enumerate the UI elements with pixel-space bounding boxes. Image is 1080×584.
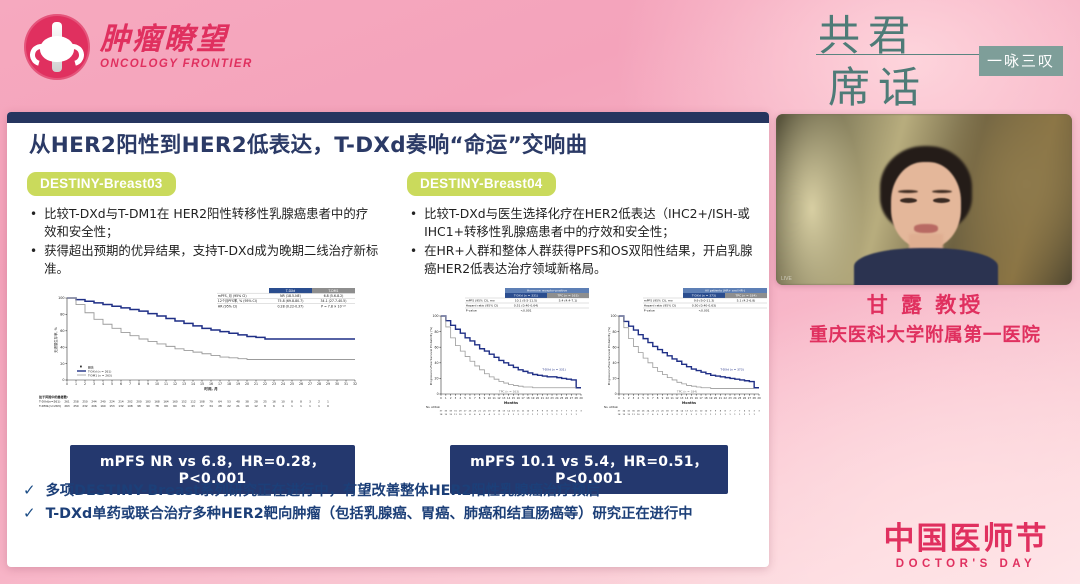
svg-text:8: 8 — [479, 396, 481, 400]
speaker-brow-left — [898, 190, 918, 193]
crab-globe-icon — [24, 14, 90, 80]
svg-text:9: 9 — [715, 411, 717, 413]
svg-text:T-DXd (n = 373): T-DXd (n = 373) — [691, 294, 716, 298]
svg-text:1: 1 — [318, 404, 320, 408]
speaker-affiliation: 重庆医科大学附属第一医院 — [776, 322, 1074, 350]
svg-text:12: 12 — [690, 411, 693, 413]
svg-text:24: 24 — [555, 396, 559, 400]
svg-text:Hazard ratio (95% CI): Hazard ratio (95% CI) — [644, 304, 676, 308]
svg-text:20: 20 — [613, 377, 617, 381]
svg-text:240: 240 — [100, 400, 105, 404]
svg-text:1: 1 — [547, 414, 549, 416]
svg-text:20: 20 — [483, 411, 486, 413]
bullet-item: • 比较T-DXd与T-DM1在 HER2阳性转移性乳腺癌患者中的疗效和安全性； — [30, 205, 379, 241]
svg-text:79: 79 — [209, 400, 213, 404]
svg-text:12个月PFS率, % (95% CI): 12个月PFS率, % (95% CI) — [218, 298, 257, 303]
svg-text:13: 13 — [680, 396, 684, 400]
svg-text:15: 15 — [622, 414, 625, 416]
svg-text:1: 1 — [291, 404, 293, 408]
svg-text:164: 164 — [163, 400, 168, 404]
bullet-text: 比较T-DXd与T-DM1在 HER2阳性转移性乳腺癌患者中的疗效和安全性； — [44, 205, 379, 241]
svg-text:23: 23 — [473, 411, 476, 413]
svg-text:1: 1 — [532, 414, 534, 416]
svg-text:0.51 (0.40-0.64): 0.51 (0.40-0.64) — [514, 304, 538, 308]
svg-text:1: 1 — [571, 414, 573, 416]
svg-text:11: 11 — [517, 411, 520, 413]
bullet-marker-icon: • — [30, 242, 37, 278]
svg-text:43: 43 — [191, 404, 195, 408]
svg-text:6.8 (5.6-8.2): 6.8 (5.6-8.2) — [324, 294, 344, 298]
svg-text:HR (95% CI): HR (95% CI) — [218, 304, 237, 308]
svg-text:7: 7 — [566, 411, 568, 413]
svg-text:T-DM1 (n = 263): T-DM1 (n = 263) — [87, 373, 112, 377]
svg-text:168: 168 — [154, 400, 159, 404]
bullet-marker-icon: • — [30, 205, 37, 241]
svg-text:23: 23 — [728, 396, 732, 400]
svg-text:3: 3 — [671, 414, 673, 416]
svg-text:24: 24 — [733, 396, 737, 400]
svg-text:T-DM1(n=263): T-DM1(n=263) — [38, 404, 61, 408]
svg-text:19: 19 — [488, 411, 491, 413]
bullet-item: • 获得超出预期的优异结果，支持T-DXd成为晚期二线治疗新标准。 — [30, 242, 379, 278]
svg-text:1: 1 — [75, 382, 77, 386]
svg-text:40: 40 — [613, 361, 617, 365]
svg-text:13: 13 — [685, 411, 688, 413]
svg-text:13: 13 — [512, 411, 515, 413]
svg-text:9: 9 — [147, 382, 149, 386]
svg-text:53: 53 — [227, 400, 231, 404]
svg-text:All patients (HR+ and HR-): All patients (HR+ and HR-) — [705, 289, 745, 293]
conclusion-item: ✓ 多项DESTINY-Breast系列研究正在进行中，有望改善整体HER2阳性… — [23, 482, 763, 501]
svg-text:19: 19 — [709, 396, 713, 400]
svg-text:263: 263 — [64, 404, 69, 408]
svg-text:37: 37 — [440, 411, 443, 413]
svg-text:17: 17 — [493, 411, 496, 413]
study-badge-db03: DESTINY-Breast03 — [27, 172, 176, 196]
svg-text:2: 2 — [84, 382, 86, 386]
svg-text:21: 21 — [656, 411, 659, 413]
svg-text:34.1 (27.7-40.5): 34.1 (27.7-40.5) — [321, 299, 347, 303]
svg-text:28: 28 — [637, 411, 640, 413]
svg-text:3: 3 — [676, 414, 678, 416]
svg-text:31: 31 — [454, 411, 457, 413]
channel-logo-text: 肿瘤瞭望 ONCOLOGY FRONTIER — [100, 24, 253, 69]
svg-text:28: 28 — [575, 396, 579, 400]
svg-text:NR (18.5-NE): NR (18.5-NE) — [280, 294, 301, 298]
channel-logo: 肿瘤瞭望 ONCOLOGY FRONTIER — [24, 10, 274, 84]
svg-text:7: 7 — [734, 411, 736, 413]
svg-text:0: 0 — [62, 378, 64, 382]
speaker-mouth — [914, 224, 938, 233]
svg-text:13: 13 — [502, 396, 506, 400]
program-subtitle-badge: 一咏三叹 — [979, 46, 1063, 76]
svg-text:40: 40 — [60, 345, 64, 349]
svg-text:10: 10 — [705, 411, 708, 413]
svg-text:T-DXd(n=261): T-DXd(n=261) — [38, 400, 60, 404]
svg-text:28: 28 — [317, 382, 321, 386]
speaker-eye-left — [900, 198, 917, 203]
svg-text:8: 8 — [138, 382, 140, 386]
svg-text:6: 6 — [273, 404, 275, 408]
svg-text:28: 28 — [753, 396, 757, 400]
svg-text:261: 261 — [64, 400, 69, 404]
svg-text:14: 14 — [507, 396, 511, 400]
svg-text:3: 3 — [576, 411, 578, 413]
svg-text:160: 160 — [172, 400, 177, 404]
svg-text:TPC (n = 184): TPC (n = 184) — [734, 294, 756, 298]
svg-text:232: 232 — [82, 404, 87, 408]
svg-text:80: 80 — [435, 330, 439, 334]
svg-text:1: 1 — [327, 400, 329, 404]
svg-text:1: 1 — [720, 414, 722, 416]
svg-text:<0.001: <0.001 — [520, 309, 531, 313]
slide-top-accent-bar — [7, 112, 769, 123]
svg-text:21: 21 — [254, 382, 258, 386]
svg-text:80: 80 — [613, 330, 617, 334]
svg-text:4: 4 — [637, 396, 639, 400]
svg-text:1: 1 — [744, 414, 746, 416]
svg-text:16: 16 — [695, 396, 699, 400]
svg-text:5.4 (4.4-7.1): 5.4 (4.4-7.1) — [559, 299, 578, 303]
svg-text:9: 9 — [710, 411, 712, 413]
svg-text:16: 16 — [676, 411, 679, 413]
svg-text:19: 19 — [531, 396, 535, 400]
svg-text:P value: P value — [466, 309, 477, 313]
svg-text:8: 8 — [300, 400, 302, 404]
svg-text:6: 6 — [479, 414, 481, 416]
svg-text:24: 24 — [647, 411, 650, 413]
svg-text:10: 10 — [666, 396, 670, 400]
svg-text:0: 0 — [615, 392, 617, 396]
svg-text:22: 22 — [724, 396, 728, 400]
svg-text:160: 160 — [100, 404, 105, 408]
svg-text:12: 12 — [675, 396, 679, 400]
svg-text:5: 5 — [484, 414, 486, 416]
svg-text:P value: P value — [644, 309, 655, 313]
svg-text:27: 27 — [570, 396, 574, 400]
svg-text:14: 14 — [680, 411, 683, 413]
svg-text:3: 3 — [758, 411, 760, 413]
svg-text:8: 8 — [264, 404, 266, 408]
svg-text:No. at Risk: No. at Risk — [426, 405, 440, 409]
svg-text:1: 1 — [700, 414, 702, 416]
svg-text:7: 7 — [561, 411, 563, 413]
svg-text:Months: Months — [504, 401, 518, 405]
svg-text:183: 183 — [145, 400, 150, 404]
svg-text:1: 1 — [725, 414, 727, 416]
svg-text:2: 2 — [681, 414, 683, 416]
svg-text:29: 29 — [459, 411, 462, 413]
svg-text:T-DXd (n = 331): T-DXd (n = 331) — [513, 294, 538, 298]
bullet-list-db04: • 比较T-DXd与医生选择化疗在HER2低表达（IHC2+/ISH-或IHC1… — [407, 205, 757, 278]
svg-text:17: 17 — [218, 382, 222, 386]
svg-text:1: 1 — [754, 414, 756, 416]
slide-column-left: DESTINY-Breast03 • 比较T-DXd与T-DM1在 HER2阳性… — [27, 172, 379, 279]
slide-column-right: DESTINY-Breast04 • 比较T-DXd与医生选择化疗在HER2低表… — [407, 172, 757, 279]
svg-text:10: 10 — [488, 396, 492, 400]
svg-text:2: 2 — [686, 414, 688, 416]
svg-text:1: 1 — [542, 414, 544, 416]
conclusion-item: ✓ T-DXd单药或联合治疗多种HER2靶向肿瘤（包括乳腺癌、胃癌、肺癌和结直肠… — [23, 505, 763, 524]
svg-text:10: 10 — [527, 411, 530, 413]
svg-text:14: 14 — [191, 382, 195, 386]
svg-text:37: 37 — [200, 404, 204, 408]
svg-text:9: 9 — [464, 414, 466, 416]
program-title-line2: 席话 — [828, 54, 928, 115]
svg-text:21: 21 — [541, 396, 545, 400]
svg-text:11: 11 — [670, 396, 674, 400]
svg-text:29: 29 — [579, 396, 583, 400]
svg-text:0.50 (0.40-0.63): 0.50 (0.40-0.63) — [692, 304, 716, 308]
svg-text:mPFS (95% CI), mo: mPFS (95% CI), mo — [644, 299, 673, 303]
svg-text:4: 4 — [489, 414, 491, 416]
svg-text:26: 26 — [642, 411, 645, 413]
km-chart-svg: 020406080100 012345678910111213141516171… — [603, 282, 769, 422]
svg-text:0: 0 — [437, 392, 439, 396]
svg-text:8: 8 — [642, 414, 644, 416]
svg-text:1: 1 — [749, 414, 751, 416]
svg-text:7: 7 — [729, 411, 731, 413]
svg-text:3: 3 — [503, 414, 505, 416]
event-name-cn: 中国医师节 — [864, 523, 1068, 556]
svg-text:35: 35 — [444, 411, 447, 413]
svg-text:26: 26 — [299, 382, 303, 386]
svg-text:12: 12 — [173, 382, 177, 386]
speaker-brow-right — [932, 190, 952, 193]
svg-text:6: 6 — [749, 411, 751, 413]
svg-text:11: 11 — [522, 411, 525, 413]
svg-text:11: 11 — [632, 414, 635, 416]
svg-text:8: 8 — [291, 400, 293, 404]
svg-text:34: 34 — [209, 404, 213, 408]
bullet-list-db03: • 比较T-DXd与T-DM1在 HER2阳性转移性乳腺癌患者中的疗效和安全性；… — [27, 205, 379, 278]
svg-text:11: 11 — [454, 414, 457, 416]
svg-text:27: 27 — [748, 396, 752, 400]
svg-text:2: 2 — [691, 414, 693, 416]
svg-text:1: 1 — [710, 414, 712, 416]
svg-text:15: 15 — [690, 396, 694, 400]
svg-text:7: 7 — [474, 396, 476, 400]
svg-text:11: 11 — [695, 411, 698, 413]
svg-text:16: 16 — [209, 382, 213, 386]
svg-text:10: 10 — [700, 411, 703, 413]
svg-text:214: 214 — [118, 400, 123, 404]
svg-text:100: 100 — [611, 314, 617, 318]
svg-text:30: 30 — [335, 382, 339, 386]
svg-text:22: 22 — [227, 404, 231, 408]
svg-text:60: 60 — [613, 345, 617, 349]
svg-text:21: 21 — [236, 404, 240, 408]
svg-text:23: 23 — [550, 396, 554, 400]
speaker-name: 甘 露 教授 — [776, 290, 1074, 322]
svg-text:1: 1 — [739, 414, 741, 416]
svg-text:11: 11 — [164, 382, 168, 386]
svg-text:8: 8 — [469, 414, 471, 416]
svg-text:No. at Risk: No. at Risk — [604, 405, 618, 409]
svg-text:3: 3 — [309, 400, 311, 404]
svg-text:100: 100 — [58, 296, 64, 300]
svg-text:40: 40 — [435, 361, 439, 365]
svg-text:132: 132 — [118, 404, 123, 408]
svg-text:8: 8 — [551, 411, 553, 413]
svg-text:处于风险中的患者数:: 处于风险中的患者数: — [38, 394, 68, 399]
svg-text:15: 15 — [512, 396, 516, 400]
svg-text:80: 80 — [60, 313, 64, 317]
svg-text:17: 17 — [671, 411, 674, 413]
svg-text:5: 5 — [464, 396, 466, 400]
svg-text:10: 10 — [155, 382, 159, 386]
svg-text:1: 1 — [556, 414, 558, 416]
svg-text:15: 15 — [444, 414, 447, 416]
speaker-eye-right — [933, 198, 950, 203]
svg-text:9: 9 — [537, 411, 539, 413]
svg-text:60: 60 — [173, 404, 177, 408]
svg-text:69: 69 — [164, 404, 168, 408]
svg-text:78: 78 — [155, 404, 159, 408]
svg-text:5: 5 — [111, 382, 113, 386]
svg-text:8: 8 — [657, 396, 659, 400]
svg-text:10: 10 — [637, 414, 640, 416]
svg-text:14: 14 — [685, 396, 689, 400]
svg-text:20: 20 — [661, 411, 664, 413]
svg-text:25: 25 — [290, 382, 294, 386]
svg-text:202: 202 — [127, 400, 132, 404]
svg-text:16: 16 — [517, 396, 521, 400]
svg-text:3: 3 — [493, 414, 495, 416]
svg-text:3: 3 — [580, 411, 582, 413]
study-badge-db04: DESTINY-Breast04 — [407, 172, 556, 196]
svg-text:1: 1 — [705, 414, 707, 416]
presentation-slide: 从HER2阳性到HER2低表达，T-DXd奏响“命运”交响曲 DESTINY-B… — [7, 112, 769, 567]
svg-text:2: 2 — [628, 396, 630, 400]
svg-text:无进展生存率, %: 无进展生存率, % — [53, 326, 58, 352]
channel-name-en: ONCOLOGY FRONTIER — [100, 58, 253, 70]
svg-text:23: 23 — [651, 411, 654, 413]
svg-text:25: 25 — [560, 396, 564, 400]
svg-text:1: 1 — [300, 404, 302, 408]
svg-text:90: 90 — [146, 404, 150, 408]
svg-text:0: 0 — [618, 396, 620, 400]
svg-text:4: 4 — [102, 382, 104, 386]
svg-text:60: 60 — [435, 345, 439, 349]
crab-claw-left-icon — [26, 40, 56, 70]
svg-text:7: 7 — [739, 411, 741, 413]
svg-text:2: 2 — [513, 414, 515, 416]
svg-text:1: 1 — [566, 414, 568, 416]
svg-text:32: 32 — [353, 382, 357, 386]
svg-text:T-DXd: T-DXd — [285, 289, 295, 293]
svg-text:100: 100 — [433, 314, 439, 318]
svg-text:2: 2 — [508, 414, 510, 416]
svg-text:9: 9 — [532, 411, 534, 413]
conclusions-list: ✓ 多项DESTINY-Breast系列研究正在进行中，有望改善整体HER2阳性… — [23, 482, 763, 528]
svg-text:1: 1 — [551, 414, 553, 416]
svg-text:19: 19 — [236, 382, 240, 386]
svg-text:60: 60 — [60, 329, 64, 333]
svg-text:250: 250 — [82, 400, 87, 404]
svg-text:3: 3 — [498, 414, 500, 416]
svg-text:2: 2 — [527, 414, 529, 416]
svg-text:6: 6 — [469, 396, 471, 400]
svg-text:152: 152 — [181, 400, 186, 404]
svg-text:5: 5 — [657, 414, 659, 416]
svg-text:21: 21 — [719, 396, 723, 400]
svg-text:18: 18 — [440, 414, 443, 416]
svg-text:6: 6 — [652, 414, 654, 416]
svg-text:2: 2 — [318, 400, 320, 404]
svg-text:7: 7 — [647, 414, 649, 416]
svg-text:26: 26 — [743, 396, 747, 400]
svg-text:98: 98 — [137, 404, 141, 408]
svg-text:6: 6 — [474, 414, 476, 416]
svg-text:2: 2 — [696, 414, 698, 416]
svg-text:13: 13 — [627, 414, 630, 416]
svg-text:244: 244 — [91, 400, 96, 404]
svg-text:0: 0 — [440, 396, 442, 400]
svg-text:29: 29 — [326, 382, 330, 386]
event-logo: 中国医师节 DOCTOR'S DAY — [864, 523, 1068, 570]
svg-text:32: 32 — [627, 411, 630, 413]
speaker-torso — [854, 248, 998, 285]
svg-text:25: 25 — [263, 400, 267, 404]
svg-text:8: 8 — [547, 411, 549, 413]
svg-text:22: 22 — [546, 396, 550, 400]
svg-text:T-DXd (n = 331): T-DXd (n = 331) — [541, 368, 565, 372]
svg-text:0.28 (0.22-0.37): 0.28 (0.22-0.37) — [278, 304, 304, 308]
svg-text:1: 1 — [715, 414, 717, 416]
svg-text:17: 17 — [521, 396, 525, 400]
svg-text:1: 1 — [445, 396, 447, 400]
speaker-video-tile[interactable]: LIVE — [776, 114, 1072, 285]
svg-text:15: 15 — [502, 411, 505, 413]
svg-text:11: 11 — [492, 396, 496, 400]
km-chart-svg: 020406080100 012345678910111213141516171… — [37, 282, 377, 422]
svg-text:27: 27 — [308, 382, 312, 386]
svg-text:28: 28 — [254, 400, 258, 404]
svg-text:Progression-Free Survival Prob: Progression-Free Survival Probability (%… — [429, 327, 433, 386]
svg-text:9: 9 — [662, 396, 664, 400]
svg-text:T-DM1: T-DM1 — [327, 289, 338, 293]
km-chart-svg: 020406080100 012345678910111213141516171… — [425, 282, 591, 422]
svg-text:2: 2 — [522, 414, 524, 416]
km-chart-destiny-breast03: 020406080100 012345678910111213141516171… — [37, 282, 377, 422]
svg-text:20: 20 — [245, 382, 249, 386]
svg-text:4: 4 — [667, 414, 669, 416]
svg-text:20: 20 — [60, 362, 64, 366]
svg-text:25: 25 — [469, 411, 472, 413]
slide-title: 从HER2阳性到HER2低表达，T-DXd奏响“命运”交响曲 — [29, 128, 587, 159]
svg-text:3: 3 — [633, 396, 635, 400]
conclusion-text: T-DXd单药或联合治疗多种HER2靶向肿瘤（包括乳腺癌、胃癌、肺癌和结直肠癌等… — [46, 505, 693, 524]
svg-text:9: 9 — [484, 396, 486, 400]
svg-text:8: 8 — [720, 411, 722, 413]
svg-text:7: 7 — [129, 382, 131, 386]
svg-text:18: 18 — [227, 382, 231, 386]
svg-text:30: 30 — [632, 411, 635, 413]
svg-text:1: 1 — [561, 414, 563, 416]
svg-text:18: 18 — [618, 414, 621, 416]
svg-text:T-DXd (n = 373): T-DXd (n = 373) — [719, 368, 743, 372]
svg-text:23: 23 — [272, 382, 276, 386]
bullet-marker-icon: • — [410, 205, 417, 241]
svg-text:4: 4 — [459, 396, 461, 400]
svg-text:8: 8 — [556, 411, 558, 413]
crab-claw-right-icon — [58, 40, 88, 70]
svg-text:21: 21 — [478, 411, 481, 413]
svg-text:75.8 (69.8-80.7): 75.8 (69.8-80.7) — [278, 299, 304, 303]
svg-text:mPFS, 月 (95% CI): mPFS, 月 (95% CI) — [218, 294, 247, 298]
svg-text:5.1 (4.2-6.8): 5.1 (4.2-6.8) — [737, 299, 756, 303]
